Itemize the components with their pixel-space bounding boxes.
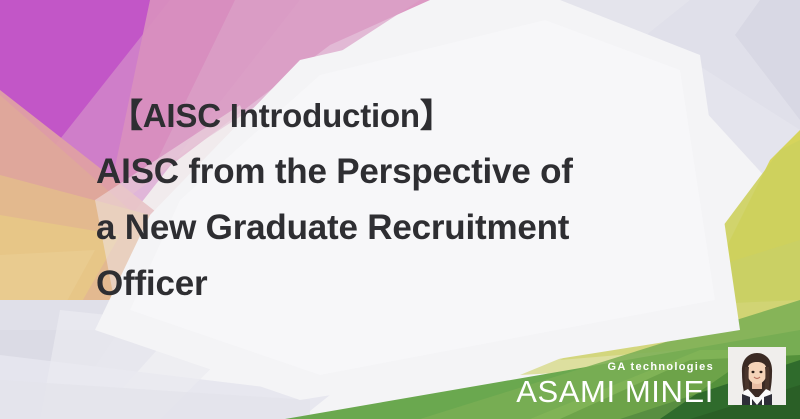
title-line-4: Officer xyxy=(96,256,716,312)
company-name: GA technologies xyxy=(516,360,714,374)
title-line-3: a New Graduate Recruitment xyxy=(96,200,716,256)
author-name: ASAMI MINEI xyxy=(516,375,714,409)
portrait-eye-left xyxy=(752,371,755,373)
author-banner: GA technologies ASAMI MINEI xyxy=(516,360,714,409)
author-portrait-photo xyxy=(728,347,786,405)
article-title: 【AISC Introduction】 AISC from the Perspe… xyxy=(96,88,716,312)
portrait-eye-right xyxy=(760,371,763,373)
portrait-illustration xyxy=(728,347,786,405)
title-line-1: 【AISC Introduction】 xyxy=(96,88,716,144)
title-line-2: AISC from the Perspective of xyxy=(96,144,716,200)
note-article-header-card: 【AISC Introduction】 AISC from the Perspe… xyxy=(0,0,800,419)
